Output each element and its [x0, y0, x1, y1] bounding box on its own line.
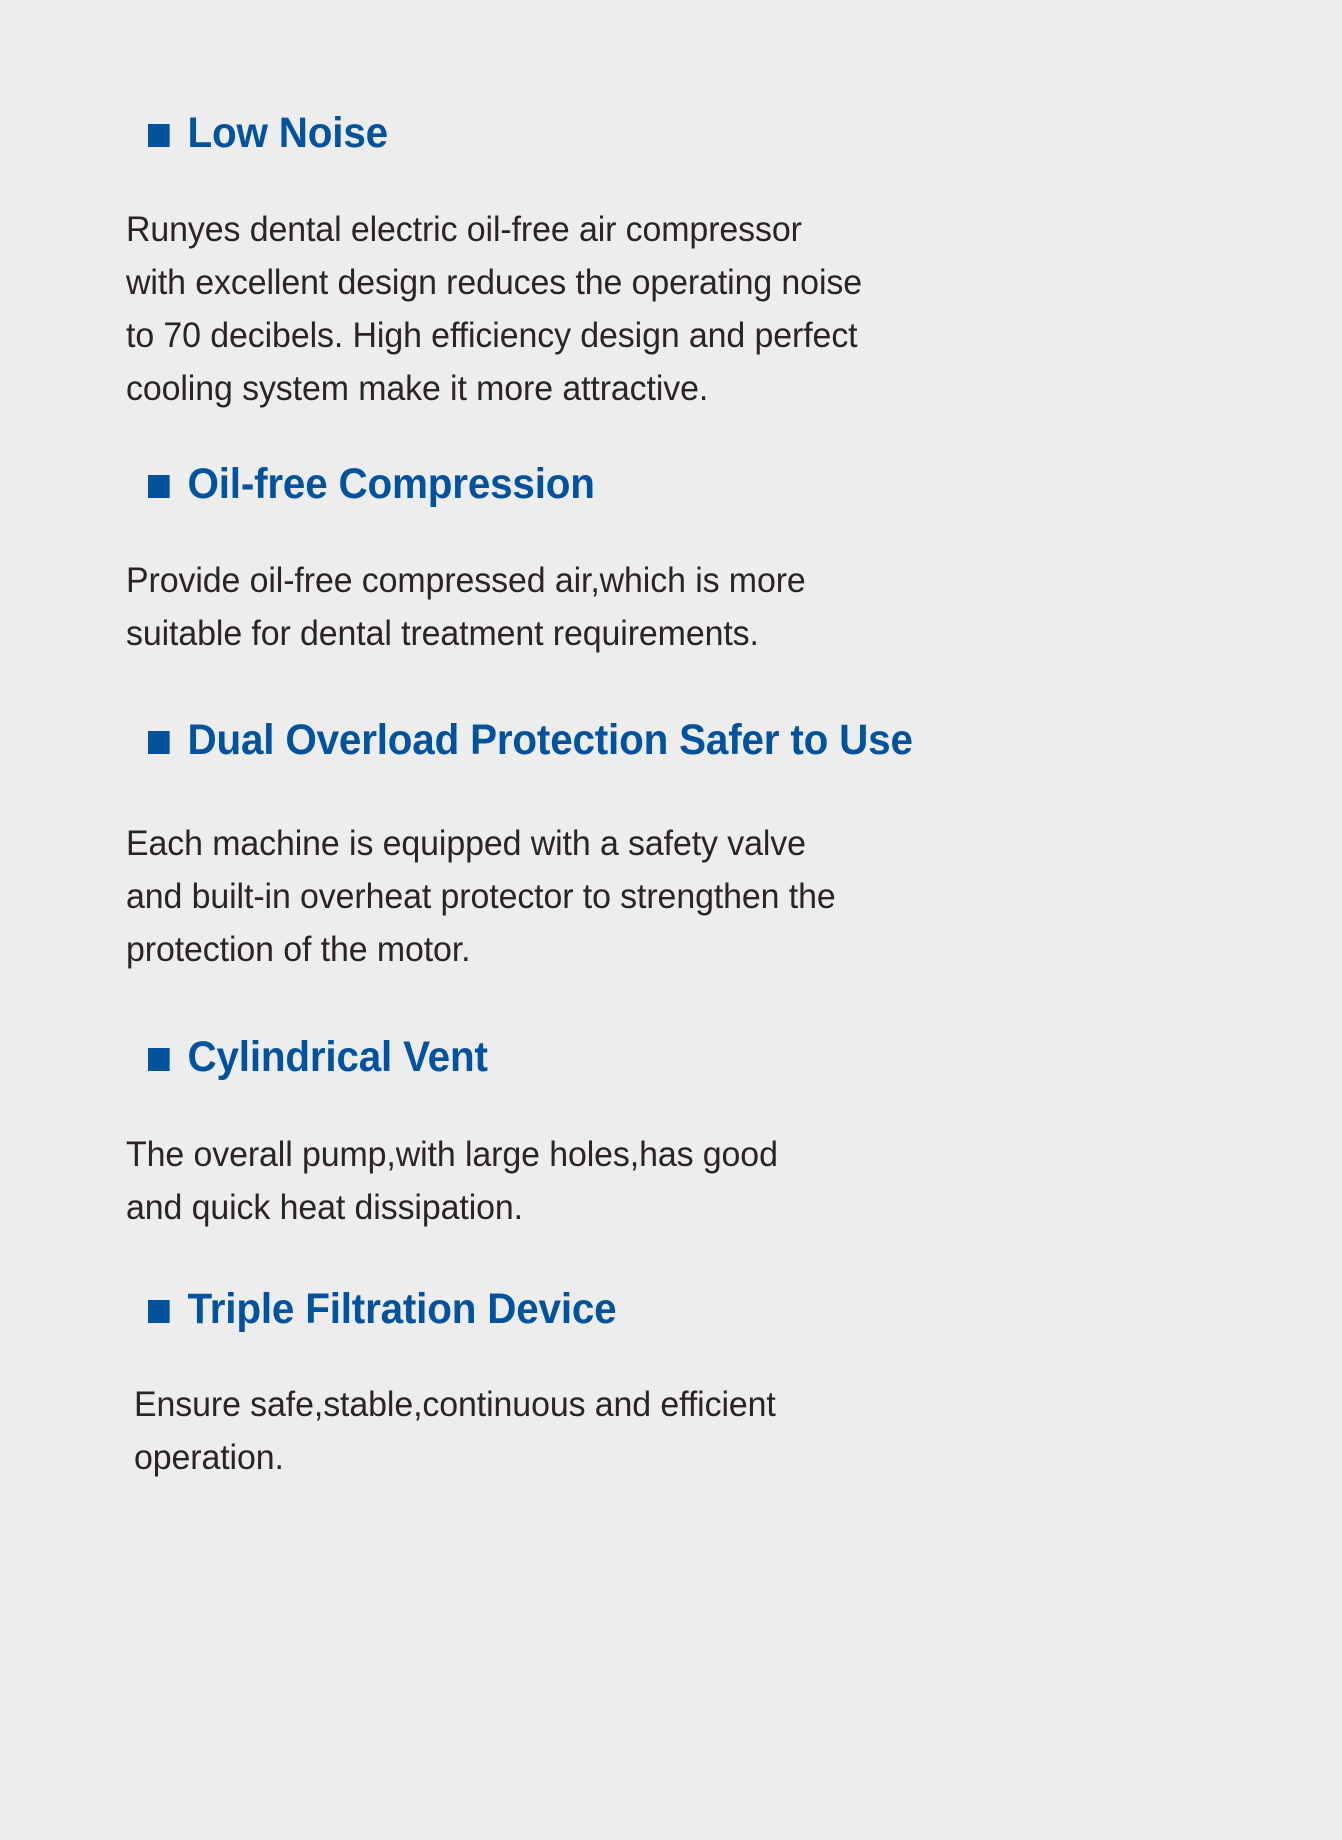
- feature-heading: Dual Overload Protection Safer to Use: [148, 719, 913, 762]
- feature-section-dual-overload-protection: Dual Overload Protection Safer to Use Ea…: [148, 719, 962, 976]
- square-bullet-icon: [148, 1048, 170, 1071]
- square-bullet-icon: [148, 1300, 170, 1323]
- feature-heading-label: Cylindrical Vent: [187, 1036, 487, 1079]
- product-feature-page: Low Noise Runyes dental electric oil-fre…: [0, 0, 1342, 1840]
- feature-heading: Cylindrical Vent: [148, 1036, 769, 1079]
- feature-heading-label: Dual Overload Protection Safer to Use: [187, 719, 912, 762]
- feature-heading: Oil-free Compression: [148, 463, 796, 506]
- feature-body-text: The overall pump,with large holes,has go…: [126, 1128, 778, 1234]
- feature-heading-label: Triple Filtration Device: [187, 1288, 616, 1331]
- feature-heading: Low Noise: [148, 112, 852, 155]
- feature-section-oil-free-compression: Oil-free Compression Provide oil-free co…: [148, 463, 838, 660]
- square-bullet-icon: [148, 731, 170, 754]
- feature-section-cylindrical-vent: Cylindrical Vent The overall pump,with l…: [148, 1036, 809, 1234]
- feature-body-text: Each machine is equipped with a safety v…: [126, 817, 924, 976]
- square-bullet-icon: [148, 124, 170, 147]
- feature-heading-label: Oil-free Compression: [187, 463, 594, 506]
- feature-heading-label: Low Noise: [187, 112, 387, 155]
- feature-section-triple-filtration-device: Triple Filtration Device Ensure safe,sta…: [148, 1288, 806, 1484]
- feature-body-text: Provide oil-free compressed air,which is…: [126, 554, 806, 660]
- feature-heading: Triple Filtration Device: [148, 1288, 766, 1331]
- feature-body-text: Runyes dental electric oil-free air comp…: [126, 203, 862, 415]
- square-bullet-icon: [148, 475, 170, 498]
- feature-body-text: Ensure safe,stable,continuous and effici…: [134, 1378, 776, 1484]
- feature-section-low-noise: Low Noise Runyes dental electric oil-fre…: [148, 112, 897, 415]
